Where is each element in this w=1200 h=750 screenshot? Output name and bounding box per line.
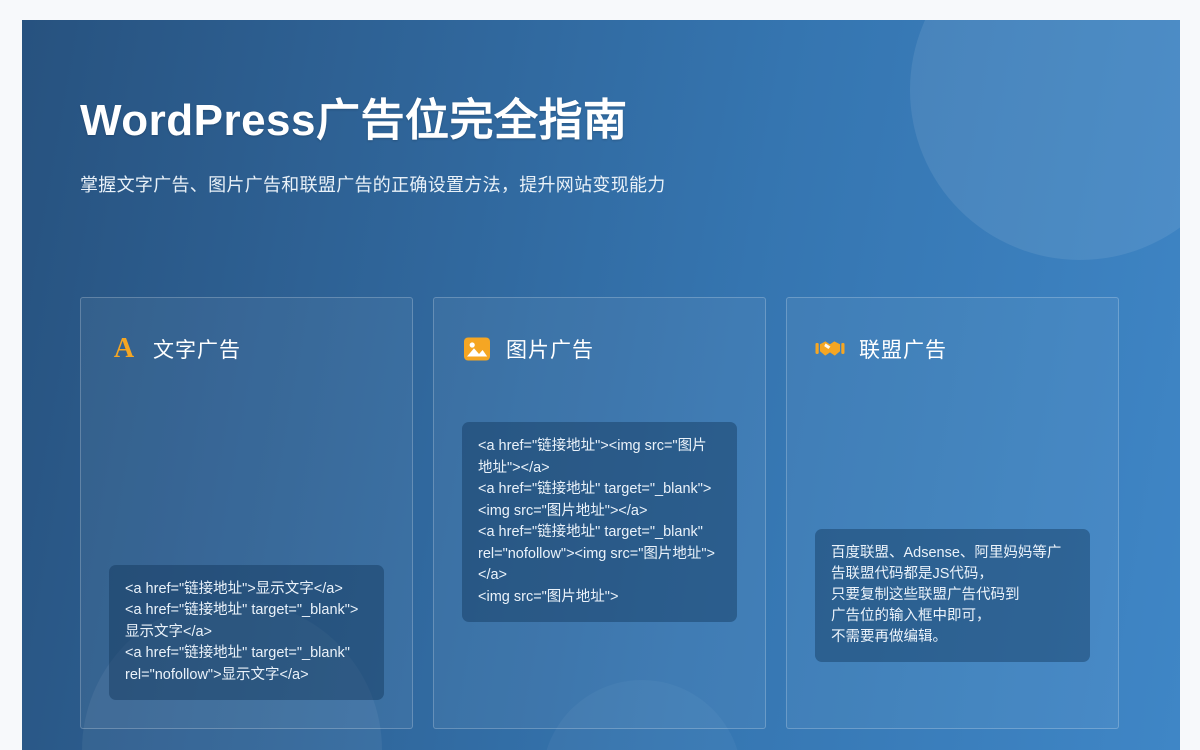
card-header: 联盟广告	[815, 332, 1090, 366]
card-title: 文字广告	[153, 334, 241, 364]
ad-type-card-affiliate[interactable]: 联盟广告 百度联盟、Adsense、阿里妈妈等广告联盟代码都是JS代码， 只要复…	[786, 297, 1119, 729]
code-snippet-text-ad[interactable]: <a href="链接地址">显示文字</a> <a href="链接地址" t…	[109, 565, 384, 701]
card-body: <a href="链接地址"><img src="图片地址"></a> <a h…	[462, 366, 737, 706]
ad-type-card-text[interactable]: A 文字广告 <a href="链接地址">显示文字</a> <a href="…	[80, 297, 413, 729]
card-spacer	[815, 366, 1090, 529]
image-ad-picture-icon	[462, 334, 492, 364]
text-ad-letter-a-icon: A	[109, 334, 139, 364]
card-header: A 文字广告	[109, 332, 384, 366]
affiliate-ad-note[interactable]: 百度联盟、Adsense、阿里妈妈等广告联盟代码都是JS代码， 只要复制这些联盟…	[815, 529, 1090, 662]
ad-type-card-image[interactable]: 图片广告 <a href="链接地址"><img src="图片地址"></a>…	[433, 297, 766, 729]
card-header: 图片广告	[462, 332, 737, 366]
slide-stage: WordPress广告位完全指南 掌握文字广告、图片广告和联盟广告的正确设置方法…	[0, 0, 1200, 750]
main-panel: WordPress广告位完全指南 掌握文字广告、图片广告和联盟广告的正确设置方法…	[22, 20, 1180, 750]
ad-type-card-list: A 文字广告 <a href="链接地址">显示文字</a> <a href="…	[80, 297, 1120, 729]
card-body: <a href="链接地址">显示文字</a> <a href="链接地址" t…	[109, 366, 384, 706]
page-subtitle: 掌握文字广告、图片广告和联盟广告的正确设置方法，提升网站变现能力	[80, 173, 1080, 198]
card-title: 联盟广告	[859, 334, 947, 364]
page-title: WordPress广告位完全指南	[80, 96, 1080, 147]
card-body: 百度联盟、Adsense、阿里妈妈等广告联盟代码都是JS代码， 只要复制这些联盟…	[815, 366, 1090, 706]
header: WordPress广告位完全指南 掌握文字广告、图片广告和联盟广告的正确设置方法…	[80, 96, 1080, 198]
card-title: 图片广告	[506, 334, 594, 364]
affiliate-ad-handshake-icon	[815, 334, 845, 364]
card-spacer	[462, 366, 737, 422]
card-spacer	[109, 366, 384, 565]
code-snippet-image-ad[interactable]: <a href="链接地址"><img src="图片地址"></a> <a h…	[462, 422, 737, 622]
